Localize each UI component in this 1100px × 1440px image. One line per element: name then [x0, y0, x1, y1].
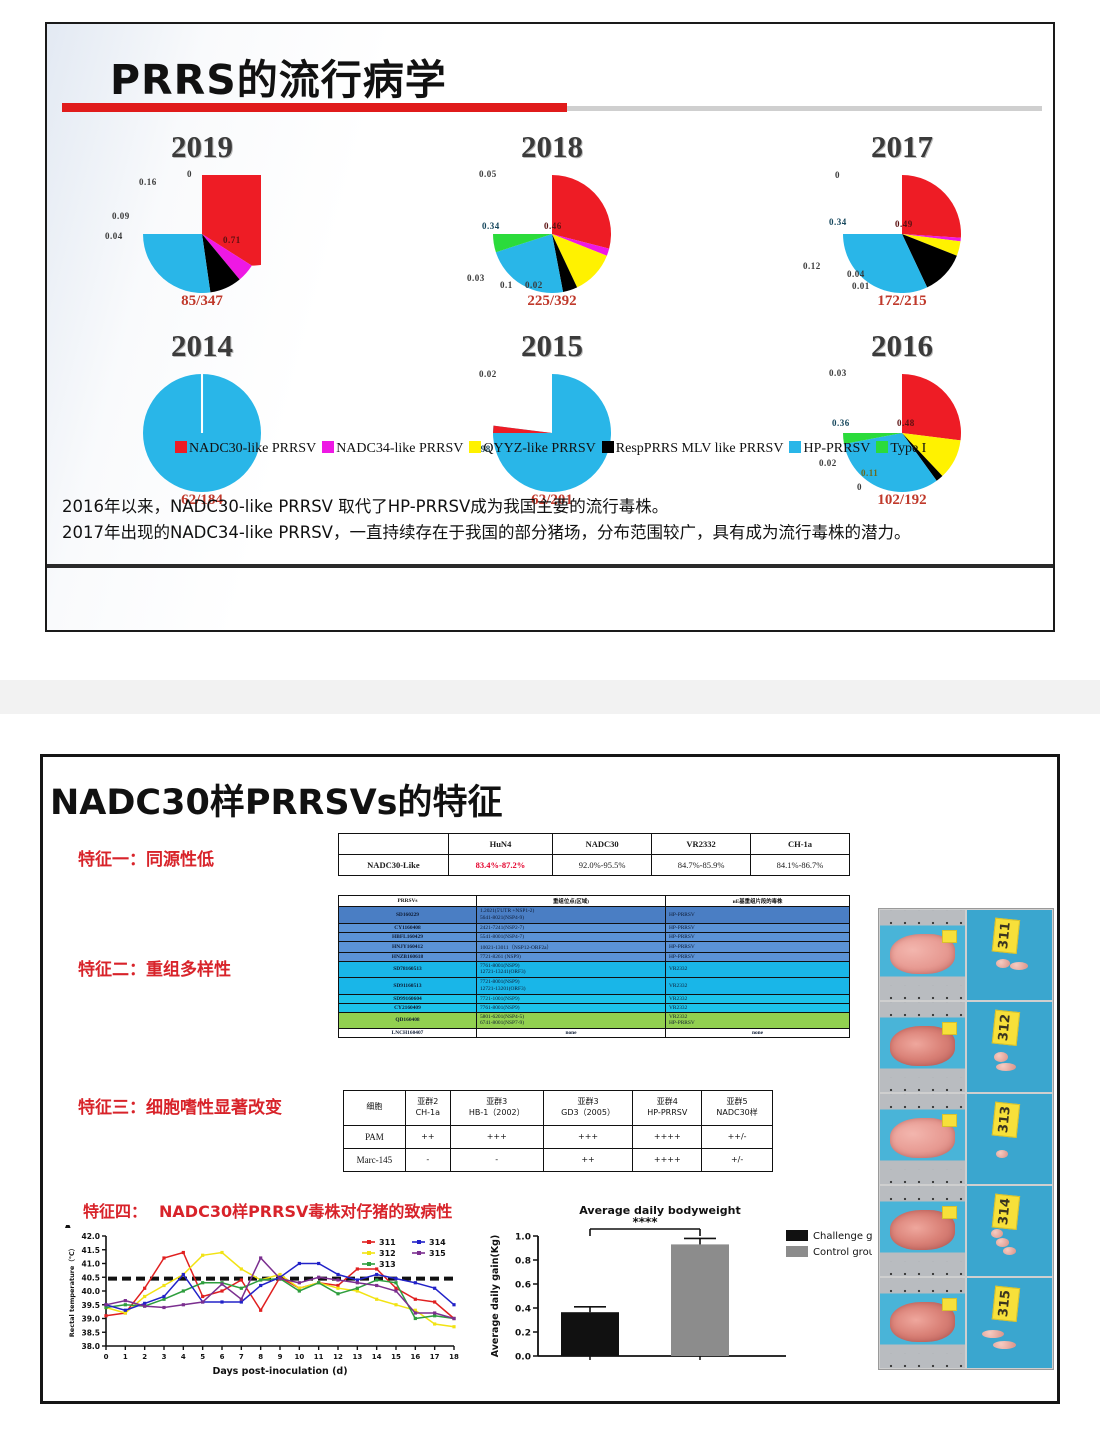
svg-text:41.0: 41.0	[81, 1260, 100, 1269]
tro-header-bottom: GD3（2005）	[546, 1108, 631, 1119]
tag-314: 314	[992, 1193, 1021, 1230]
tro-header-top: 细胞	[346, 1102, 403, 1113]
legend-swatch-mlv	[602, 441, 614, 453]
pie-label-2015-nadc30: 0.02	[479, 369, 497, 379]
rec-name: SD160229	[339, 907, 477, 924]
legend-swatch-nadc30	[175, 441, 187, 453]
svg-text:0.0: 0.0	[515, 1353, 531, 1363]
svg-text:312: 312	[379, 1249, 396, 1258]
pie-label-2019-nadc34: 0.04	[105, 231, 123, 241]
pie-label-2018-hp: 0.34	[482, 221, 500, 231]
legend-label-type1: Type I	[890, 441, 926, 456]
rec-header-sites: 重组位点(区域)	[476, 896, 665, 907]
svg-text:1.0: 1.0	[515, 1233, 531, 1243]
table-row: SD160229 1.2021(5'UTR +NSP1-2)5641-8021(…	[339, 907, 850, 924]
svg-text:Average daily gain(Kg): Average daily gain(Kg)	[490, 1235, 501, 1358]
feature-label-4-text: NADC30样PRRSV毒株对仔猪的致病性	[159, 1202, 452, 1221]
svg-text:15: 15	[391, 1353, 401, 1361]
rec-sites: 7761-8001(NSP9)12721-13241(ORF3)	[476, 961, 665, 978]
svg-text:18: 18	[449, 1353, 459, 1361]
tro-header-top: 亚群3	[453, 1097, 541, 1108]
rec-name: CY1160408	[339, 923, 477, 932]
tag-313: 313	[992, 1101, 1021, 1138]
table-row: CY1160408 2421-7241(NSP2-7) HP-PRRSV	[339, 923, 850, 932]
tissue-node	[993, 1341, 1017, 1349]
photo-lymphnode-314: 314	[966, 1185, 1053, 1277]
tray-dots-icon	[880, 1077, 965, 1092]
tissue-node	[1003, 1247, 1017, 1255]
rec-parent: VR2332HP-PRRSV	[666, 1012, 850, 1029]
rec-parent: HP-PRRSV	[666, 923, 850, 932]
pie-wrap-2017: 0 0.34 0.49 0.12 0.04 0.01	[777, 169, 1027, 289]
tag-312: 312	[992, 1009, 1021, 1046]
tro-header-bottom: HP-PRRSV	[635, 1108, 699, 1119]
svg-text:40.5: 40.5	[81, 1273, 100, 1282]
pie-label-2018-mlv: 0.03	[467, 273, 485, 283]
svg-text:314: 314	[429, 1238, 446, 1247]
rec-name: CY2160409	[339, 1003, 477, 1012]
tro-cell: -	[450, 1148, 543, 1171]
tro-cell: +/-	[702, 1148, 773, 1171]
tray-dots-icon	[880, 1353, 965, 1368]
tray-dots-icon	[880, 1186, 965, 1201]
recombination-table: PRRSVs 重组位点(区域) нЕ基重组片段的毒株 SD160229 1.20…	[338, 895, 850, 1038]
pie-fraction-2018: 225/392	[427, 293, 677, 310]
pie-wrap-2016: 0.03 0.36 0.48 0.02 0.11 0	[777, 368, 1027, 488]
table-row: 细胞 亚群2CH-1a 亚群3HB-1（2002） 亚群3GD3（2005） 亚…	[344, 1091, 773, 1126]
pie-year-2017: 2017	[777, 129, 1027, 165]
svg-text:Control group: Control group	[813, 1247, 872, 1258]
photo-lung-311	[879, 909, 966, 1001]
tro-row-label-pam: PAM	[344, 1125, 406, 1148]
table-row: HuN4 NADC30 VR2332 CH-1a	[339, 834, 850, 855]
rec-sites: 7761-8001(NSP9)	[476, 1003, 665, 1012]
pie-label-2017-hp: 0.34	[829, 217, 847, 227]
pie-label-2017-nadc30: 0.49	[895, 219, 913, 229]
tissue-node	[996, 1238, 1010, 1247]
svg-text:Challenge group: Challenge group	[813, 1231, 872, 1242]
tro-cell: ++++	[633, 1148, 702, 1171]
hom-header-ch1a: CH-1a	[751, 834, 850, 855]
homology-table: HuN4 NADC30 VR2332 CH-1a NADC30-Like 83.…	[338, 833, 850, 876]
hom-row-label: NADC30-Like	[339, 855, 449, 876]
cell-tropism-table: 细胞 亚群2CH-1a 亚群3HB-1（2002） 亚群3GD3（2005） 亚…	[343, 1090, 773, 1172]
legend-item-type1: Type I	[876, 441, 926, 456]
tray-dots-icon	[880, 1278, 965, 1293]
svg-text:0.6: 0.6	[515, 1281, 531, 1291]
pie-label-2018-qyyz: 0.1	[500, 280, 513, 290]
feature-label-3: 特征三：细胞嗜性显著改变	[78, 1093, 282, 1118]
tro-header-top: 亚群4	[635, 1097, 699, 1108]
svg-text:7: 7	[239, 1353, 244, 1361]
tro-cell: ++	[543, 1148, 633, 1171]
hom-cell-nadc30: 92.0%-95.5%	[553, 855, 652, 876]
small-tag-314	[942, 1206, 957, 1220]
rec-name: SD78160513	[339, 961, 477, 978]
slide2-title: NADC30样PRRSVs的特征	[50, 774, 503, 825]
rec-name: LNCH160407	[339, 1029, 477, 1038]
rec-sites: none	[476, 1029, 665, 1038]
pie-svg-2018	[493, 175, 611, 293]
rec-name: HBFL160429	[339, 932, 477, 941]
tissue-node	[1010, 962, 1029, 970]
legend-label-nadc34: NADC34-like PRRSV	[336, 441, 463, 456]
svg-text:1: 1	[123, 1353, 128, 1361]
pie-label-2016-mlv: 0.02	[819, 458, 837, 468]
table-row: HNZB160618 7721-8261 (NSP9) HP-PRRSV	[339, 952, 850, 961]
pie-card-2016: 2016 0.03 0.36	[777, 328, 1027, 509]
svg-text:39.5: 39.5	[81, 1301, 100, 1310]
legend-label-qyyz: QYYZ-like PRRSV	[483, 441, 595, 456]
rec-name: SD91160513	[339, 978, 477, 995]
slide1-note-line2: 2017年出现的NADC34-like PRRSV，一直持续存在于我国的部分猪场…	[62, 520, 1037, 546]
pie-label-2016-nadc34: 0	[857, 482, 862, 492]
title-rule-red	[62, 103, 567, 112]
tro-header-cell: 细胞	[344, 1091, 406, 1126]
pie-label-2017-type1: 0	[835, 170, 840, 180]
tissue-node	[996, 959, 1010, 968]
pie-svg-2014	[143, 374, 261, 492]
pie-wrap-2015: 0.02 0.98	[427, 368, 677, 488]
tissue-node	[996, 1063, 1016, 1071]
tro-cell: -	[405, 1148, 450, 1171]
table-row: SD91160513 7721-8001(NSP9)12721-13201(OR…	[339, 978, 850, 995]
legend-item-nadc34: NADC34-like PRRSV	[322, 441, 463, 456]
rec-sites: 5541-8001(NSP4-7)	[476, 932, 665, 941]
hom-cell-vr2332: 84.7%-85.9%	[652, 855, 751, 876]
svg-text:10: 10	[294, 1353, 304, 1361]
legend-label-nadc30: NADC30-like PRRSV	[189, 441, 316, 456]
pie-label-2017-qyyz: 0.04	[847, 269, 865, 279]
necropsy-photo-grid: 311 312 313 314 315	[878, 908, 1054, 1370]
rec-parent: VR2332	[666, 1003, 850, 1012]
tro-cell: +++	[450, 1125, 543, 1148]
tissue-node	[982, 1330, 1004, 1338]
rec-sites: 7721-1001(NSP9)	[476, 994, 665, 1003]
table-row: SD99160604 7721-1001(NSP9) VR2332	[339, 994, 850, 1003]
svg-text:2: 2	[142, 1353, 147, 1361]
svg-text:13: 13	[352, 1353, 362, 1361]
tissue-node	[996, 1150, 1008, 1158]
rec-site-line: 6741-8001(NSP7-9)	[480, 1020, 662, 1027]
bar-chart-svg: Average daily bodyweight1.00.80.60.40.20…	[472, 1198, 872, 1383]
rec-parent: VR2332	[666, 961, 850, 978]
tray-dots-icon	[880, 985, 965, 1000]
pie-year-2019: 2019	[77, 129, 327, 165]
svg-text:38.0: 38.0	[81, 1342, 100, 1351]
rectal-temperature-chart: 42.041.541.040.540.039.539.038.538.00123…	[62, 1228, 462, 1383]
rec-sites: 5801-6201(NSP4-5)6741-8001(NSP7-9)	[476, 1012, 665, 1029]
rec-site-line: 12721-13241(ORF3)	[480, 969, 662, 976]
svg-text:17: 17	[430, 1353, 440, 1361]
photo-lymphnode-311: 311	[966, 909, 1053, 1001]
rec-name: QD160408	[339, 1012, 477, 1029]
photo-lung-314	[879, 1185, 966, 1277]
tro-header-top: 亚群2	[408, 1097, 448, 1108]
pie-label-2016-hp: 0.36	[832, 418, 850, 428]
pie-year-2015: 2015	[427, 328, 677, 364]
tray-dots-icon	[880, 910, 965, 925]
tro-row-label-marc145: Marc-145	[344, 1148, 406, 1171]
tro-cell: +++	[543, 1125, 633, 1148]
tro-header-bottom: HB-1（2002）	[453, 1108, 541, 1119]
table-row: Marc-145 - - ++ ++++ +/-	[344, 1148, 773, 1171]
small-tag-313	[942, 1114, 957, 1128]
rec-parent: none	[666, 1029, 850, 1038]
svg-text:14: 14	[372, 1353, 382, 1361]
tray-dots-icon	[880, 1094, 965, 1109]
average-daily-bodyweight-chart: Average daily bodyweight1.00.80.60.40.20…	[472, 1198, 872, 1383]
rec-name: HNJY160412	[339, 941, 477, 952]
pie-label-2017-mlv: 0.12	[803, 261, 821, 271]
photo-lung-315	[879, 1277, 966, 1369]
legend-swatch-hp	[789, 441, 801, 453]
slide1-note: 2016年以来，NADC30-like PRRSV 取代了HP-PRRSV成为我…	[62, 494, 1037, 545]
tissue-node	[994, 1052, 1008, 1062]
table-row: LNCH160407 none none	[339, 1029, 850, 1038]
feature-label-4-prefix: 特征四：	[83, 1202, 147, 1221]
slide-prrs-epidemiology: PRRS的流行病学 2019	[0, 0, 1100, 680]
tro-header-bottom: NADC30样	[704, 1108, 770, 1119]
table-row: PAM ++ +++ +++ ++++ ++/-	[344, 1125, 773, 1148]
tro-header-bottom: CH-1a	[408, 1108, 448, 1119]
svg-text:16: 16	[410, 1353, 420, 1361]
rec-header-prrsvs: PRRSVs	[339, 896, 477, 907]
svg-text:40.0: 40.0	[81, 1287, 100, 1296]
rec-sites: 10021-13011（NSP12-ORF2a）	[476, 941, 665, 952]
svg-text:41.5: 41.5	[81, 1246, 100, 1255]
small-tag-312	[942, 1022, 957, 1036]
tro-header-top: 亚群5	[704, 1097, 770, 1108]
hom-header-nadc30: NADC30	[553, 834, 652, 855]
pie-card-2015: 2015 0.02 0.98 62/201	[427, 328, 677, 509]
rec-site-line: 7721-8001(NSP9)	[480, 979, 662, 986]
legend-item-nadc30: NADC30-like PRRSV	[175, 441, 316, 456]
table-row: HNJY160412 10021-13011（NSP12-ORF2a） HP-P…	[339, 941, 850, 952]
pie-fraction-2017: 172/215	[777, 293, 1027, 310]
rec-name: HNZB160618	[339, 952, 477, 961]
pie-label-2017-nadc34: 0.01	[852, 281, 870, 291]
photo-lymphnode-313: 313	[966, 1093, 1053, 1185]
svg-text:Days post-inoculation (d): Days post-inoculation (d)	[212, 1366, 347, 1377]
table-row: NADC30-Like 83.4%-87.2% 92.0%-95.5% 84.7…	[339, 855, 850, 876]
svg-text:8: 8	[258, 1353, 263, 1361]
svg-text:313: 313	[379, 1260, 396, 1269]
pie-wrap-2018: 0.05 0.34 0.46 0.03 0.1 0.02	[427, 169, 677, 289]
table-row: PRRSVs 重组位点(区域) нЕ基重组片段的毒株	[339, 896, 850, 907]
pie-card-2019: 2019 0.16 0 0.09	[77, 129, 327, 310]
tissue-node	[991, 1229, 1003, 1238]
hom-header-hun4: HuN4	[448, 834, 552, 855]
tray-dots-icon	[880, 1261, 965, 1276]
hom-header-vr2332: VR2332	[652, 834, 751, 855]
tro-header-sub2: 亚群2CH-1a	[405, 1091, 450, 1126]
pie-year-2014: 2014	[77, 328, 327, 364]
pie-row-top: 2019 0.16 0 0.09	[47, 129, 1057, 310]
rec-site-line: 12721-13201(ORF3)	[480, 986, 662, 993]
pie-svg-2015	[493, 374, 611, 492]
pie-card-2018: 2018 0.05	[427, 129, 677, 310]
temp-chart-svg: 42.041.541.040.540.039.539.038.538.00123…	[62, 1228, 462, 1383]
rec-parent: HP-PRRSV	[666, 952, 850, 961]
feature-label-2: 特征二：重组多样性	[78, 955, 231, 980]
legend-swatch-qyyz	[469, 441, 481, 453]
hom-cell-ch1a: 84.1%-86.7%	[751, 855, 850, 876]
tro-header-sub3a: 亚群3HB-1（2002）	[450, 1091, 543, 1126]
pie-label-2018-nadc30: 0.46	[544, 221, 562, 231]
hom-cell-hun4: 83.4%-87.2%	[448, 855, 552, 876]
svg-text:315: 315	[429, 1249, 446, 1258]
pie-row-bottom: 2014 62/184 2015	[47, 328, 1057, 509]
svg-text:0: 0	[104, 1353, 109, 1361]
svg-text:39.0: 39.0	[81, 1315, 100, 1324]
rec-site-line: 5641-8021(NSP4-9)	[480, 915, 662, 922]
photo-lung-313	[879, 1093, 966, 1185]
tro-header-sub3b: 亚群3GD3（2005）	[543, 1091, 633, 1126]
slide1-frame: PRRS的流行病学 2019	[45, 22, 1055, 632]
tro-header-sub5: 亚群5NADC30样	[702, 1091, 773, 1126]
photo-lung-312	[879, 1001, 966, 1093]
slide1-bottom-rule	[47, 564, 1053, 568]
svg-text:Average daily bodyweight: Average daily bodyweight	[579, 1204, 740, 1217]
rec-parent-line: HP-PRRSV	[669, 1020, 846, 1027]
table-row: HBFL160429 5541-8001(NSP4-7) HP-PRRSV	[339, 932, 850, 941]
svg-text:4: 4	[181, 1353, 186, 1361]
rec-parent: HP-PRRSV	[666, 941, 850, 952]
pie-card-2017: 2017 0 0.34	[777, 129, 1027, 310]
pie-wrap-2014	[77, 368, 327, 488]
legend-label-mlv: RespPRRS MLV like PRRSV	[616, 441, 784, 456]
svg-text:12: 12	[333, 1353, 343, 1361]
table-row: QD160408 5801-6201(NSP4-5)6741-8001(NSP7…	[339, 1012, 850, 1029]
pie-fraction-2019: 85/347	[77, 293, 327, 310]
tro-cell: ++	[405, 1125, 450, 1148]
pie-wrap-2019: 0.16 0 0.09 0.04 0.71	[77, 169, 327, 289]
pie-svg-2019	[143, 175, 261, 293]
slide1-note-line1: 2016年以来，NADC30-like PRRSV 取代了HP-PRRSV成为我…	[62, 494, 1037, 520]
rec-header-parent: нЕ基重组片段的毒株	[666, 896, 850, 907]
svg-text:6: 6	[220, 1353, 225, 1361]
feature-label-1: 特征一：同源性低	[78, 845, 214, 870]
pie-label-2019-nadc30: 0.71	[223, 235, 241, 245]
rec-parent: HP-PRRSV	[666, 907, 850, 924]
pie-label-2016-type1: 0.03	[829, 368, 847, 378]
svg-text:0.8: 0.8	[515, 1257, 531, 1267]
rec-parent: HP-PRRSV	[666, 932, 850, 941]
rec-site-line: 1.2021(5'UTR +NSP1-2)	[480, 908, 662, 915]
photo-lymphnode-312: 312	[966, 1001, 1053, 1093]
small-tag-311	[942, 930, 957, 944]
svg-text:0.2: 0.2	[515, 1329, 531, 1339]
legend-item-mlv: RespPRRS MLV like PRRSV	[602, 441, 784, 456]
pie-label-2018-nadc34: 0.02	[525, 280, 543, 290]
legend-swatch-type1	[876, 441, 888, 453]
table-row: SD78160513 7761-8001(NSP9)12721-13241(OR…	[339, 961, 850, 978]
legend-swatch-nadc34	[322, 441, 334, 453]
legend-item-hp: HP-PRRSV	[789, 441, 870, 456]
legend-item-qyyz: QYYZ-like PRRSV	[469, 441, 595, 456]
svg-text:11: 11	[314, 1353, 324, 1361]
svg-text:42.0: 42.0	[81, 1232, 100, 1241]
rec-parent: VR2332	[666, 978, 850, 995]
pie-label-2019-type1: 0	[187, 169, 192, 179]
svg-text:0.4: 0.4	[515, 1305, 531, 1315]
pie-year-2018: 2018	[427, 129, 677, 165]
pie-label-2019-mlv: 0.09	[112, 211, 130, 221]
slide1-title: PRRS的流行病学	[110, 46, 447, 106]
tray-dots-icon	[880, 1002, 965, 1017]
pie-card-2014: 2014 62/184	[77, 328, 327, 509]
rec-parent: VR2332	[666, 994, 850, 1003]
tro-header-sub4: 亚群4HP-PRRSV	[633, 1091, 702, 1126]
pie-label-2018-type1: 0.05	[479, 169, 497, 179]
tag-315: 315	[992, 1285, 1021, 1322]
legend-label-hp: HP-PRRSV	[803, 441, 870, 456]
tag-311: 311	[992, 917, 1021, 954]
svg-text:Rectal temperature（℃）: Rectal temperature（℃）	[68, 1245, 76, 1337]
tray-dots-icon	[880, 1169, 965, 1184]
pie-label-2016-qyyz: 0.11	[861, 468, 878, 478]
hom-header-blank	[339, 834, 449, 855]
rec-sites: 7721-8261 (NSP9)	[476, 952, 665, 961]
small-tag-315	[942, 1298, 957, 1312]
svg-text:3: 3	[162, 1353, 167, 1361]
rec-sites: 2421-7241(NSP2-7)	[476, 923, 665, 932]
rec-parent-line: VR2332	[669, 1014, 846, 1021]
svg-text:****: ****	[632, 1215, 658, 1229]
pie-label-2019-hp: 0.16	[139, 177, 157, 187]
tro-cell: ++/-	[702, 1125, 773, 1148]
rec-sites: 1.2021(5'UTR +NSP1-2)5641-8021(NSP4-9)	[476, 907, 665, 924]
tro-cell: ++++	[633, 1125, 702, 1148]
tro-header-top: 亚群3	[546, 1097, 631, 1108]
rec-name: SD99160604	[339, 994, 477, 1003]
pie-label-2016-nadc30: 0.48	[897, 418, 915, 428]
svg-text:38.5: 38.5	[81, 1328, 100, 1337]
photo-lymphnode-315: 315	[966, 1277, 1053, 1369]
table-row: CY2160409 7761-8001(NSP9) VR2332	[339, 1003, 850, 1012]
pie-year-2016: 2016	[777, 328, 1027, 364]
feature-label-4: 特征四：NADC30样PRRSV毒株对仔猪的致病性	[83, 1198, 452, 1222]
rec-sites: 7721-8001(NSP9)12721-13201(ORF3)	[476, 978, 665, 995]
svg-text:311: 311	[379, 1238, 396, 1247]
pie-legend: NADC30-like PRRSVNADC34-like PRRSVQYYZ-l…	[175, 439, 935, 459]
svg-text:5: 5	[200, 1353, 205, 1361]
svg-text:9: 9	[278, 1353, 283, 1361]
